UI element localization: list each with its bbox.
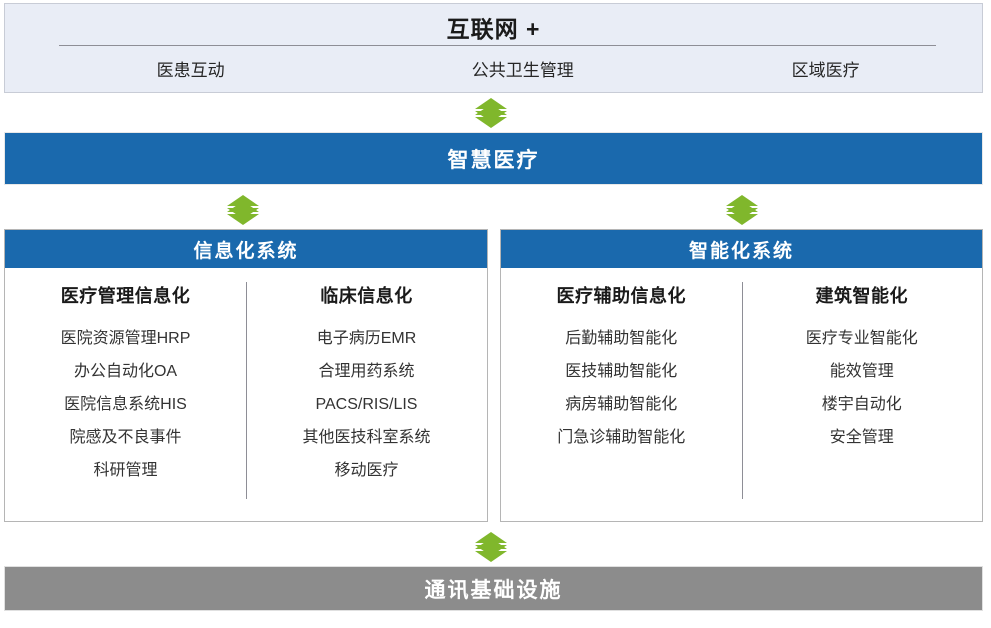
list-item: 办公自动化OA xyxy=(5,355,246,388)
internet-plus-item-0: 医患互动 xyxy=(5,56,376,81)
list-item: PACS/RIS/LIS xyxy=(246,388,487,421)
column-medical-management: 医疗管理信息化 医院资源管理HRP 办公自动化OA 医院信息系统HIS 院感及不… xyxy=(5,268,246,521)
panel-informatization-header: 信息化系统 xyxy=(5,230,487,268)
list-item: 电子病历EMR xyxy=(246,322,487,355)
double-arrow-vertical-icon-right xyxy=(725,195,759,225)
list-item: 医院信息系统HIS xyxy=(5,388,246,421)
panel-intelligent: 智能化系统 医疗辅助信息化 后勤辅助智能化 医技辅助智能化 病房辅助智能化 门急… xyxy=(500,229,983,522)
internet-plus-item-1: 公共卫生管理 xyxy=(376,56,669,81)
list-item: 合理用药系统 xyxy=(246,355,487,388)
panel-informatization-body: 医疗管理信息化 医院资源管理HRP 办公自动化OA 医院信息系统HIS 院感及不… xyxy=(5,268,487,521)
panel-intelligent-body: 医疗辅助信息化 后勤辅助智能化 医技辅助智能化 病房辅助智能化 门急诊辅助智能化… xyxy=(501,268,982,521)
column-medical-assist: 医疗辅助信息化 后勤辅助智能化 医技辅助智能化 病房辅助智能化 门急诊辅助智能化 xyxy=(501,268,742,521)
column-clinical: 临床信息化 电子病历EMR 合理用药系统 PACS/RIS/LIS 其他医技科室… xyxy=(246,268,487,521)
smart-medical-band: 智慧医疗 xyxy=(4,132,983,185)
column-title: 医疗辅助信息化 xyxy=(501,282,742,308)
column-title: 临床信息化 xyxy=(246,282,487,308)
list-item: 院感及不良事件 xyxy=(5,421,246,454)
list-item: 后勤辅助智能化 xyxy=(501,322,742,355)
double-arrow-vertical-icon xyxy=(474,98,508,128)
list-item: 楼宇自动化 xyxy=(742,388,983,421)
internet-plus-item-2: 区域医疗 xyxy=(669,56,982,81)
list-item: 医技辅助智能化 xyxy=(501,355,742,388)
internet-plus-title: 互联网 + xyxy=(5,10,982,44)
banner-divider xyxy=(59,45,936,46)
list-item: 安全管理 xyxy=(742,421,983,454)
column-title: 建筑智能化 xyxy=(742,282,983,308)
list-item: 医院资源管理HRP xyxy=(5,322,246,355)
column-building-intelligence: 建筑智能化 医疗专业智能化 能效管理 楼宇自动化 安全管理 xyxy=(742,268,983,521)
list-item: 门急诊辅助智能化 xyxy=(501,421,742,454)
list-item: 能效管理 xyxy=(742,355,983,388)
list-item: 移动医疗 xyxy=(246,454,487,487)
list-item: 病房辅助智能化 xyxy=(501,388,742,421)
internet-plus-items: 医患互动 公共卫生管理 区域医疗 xyxy=(5,56,982,81)
column-title: 医疗管理信息化 xyxy=(5,282,246,308)
panel-intelligent-header: 智能化系统 xyxy=(501,230,982,268)
list-item: 科研管理 xyxy=(5,454,246,487)
double-arrow-vertical-icon-bottom xyxy=(474,532,508,562)
double-arrow-vertical-icon-left xyxy=(226,195,260,225)
internet-plus-banner: 互联网 + 医患互动 公共卫生管理 区域医疗 xyxy=(4,3,983,93)
diagram-canvas: 互联网 + 医患互动 公共卫生管理 区域医疗 智慧医疗 信息化系统 xyxy=(0,0,991,628)
infrastructure-band: 通讯基础设施 xyxy=(4,566,983,611)
list-item: 其他医技科室系统 xyxy=(246,421,487,454)
panel-informatization: 信息化系统 医疗管理信息化 医院资源管理HRP 办公自动化OA 医院信息系统HI… xyxy=(4,229,488,522)
list-item: 医疗专业智能化 xyxy=(742,322,983,355)
